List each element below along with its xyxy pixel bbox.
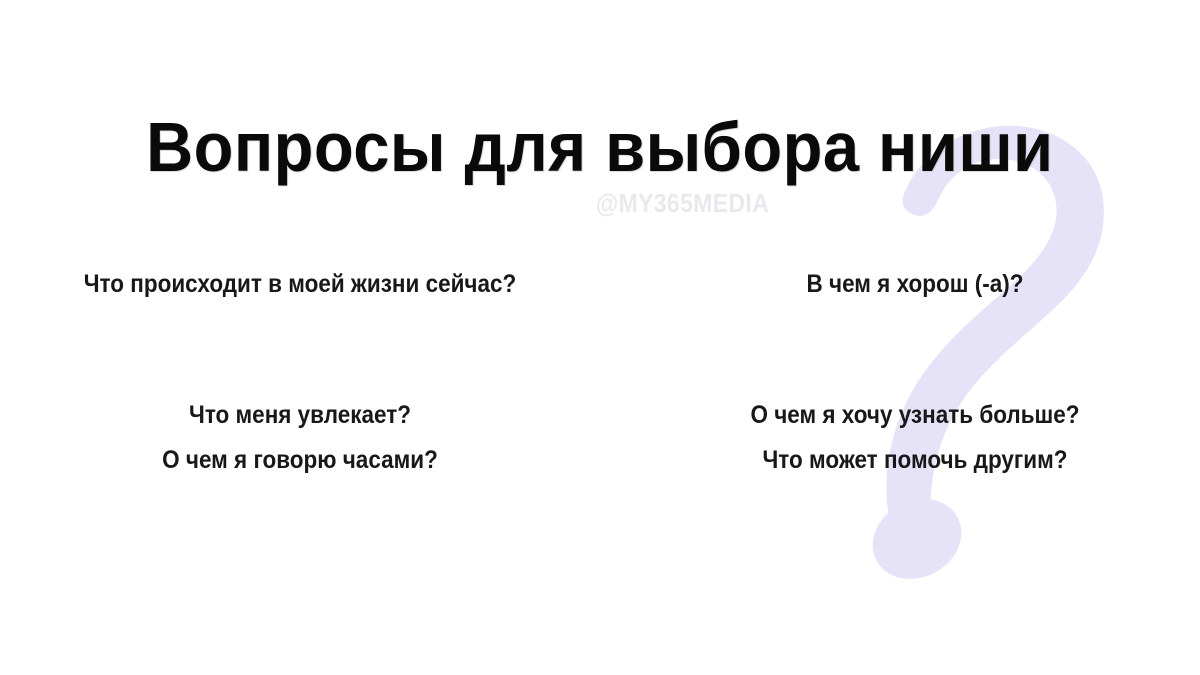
question-item: Что меня увлекает? [75,403,525,428]
question-item: Что происходит в моей жизни сейчас? [75,272,525,297]
questions-column-right: В чем я хорош (-а)? О чем я хочу узнать … [665,0,1165,675]
question-item: Что может помочь другим? [690,448,1140,473]
question-item: В чем я хорош (-а)? [690,272,1140,297]
questions-container: Что происходит в моей жизни сейчас? Что … [0,0,1200,675]
slide-canvas: @MY365MEDIA Вопросы для выбора ниши Что … [0,0,1200,675]
questions-column-left: Что происходит в моей жизни сейчас? Что … [50,0,550,675]
question-item: О чем я хочу узнать больше? [690,403,1140,428]
question-item: О чем я говорю часами? [75,448,525,473]
